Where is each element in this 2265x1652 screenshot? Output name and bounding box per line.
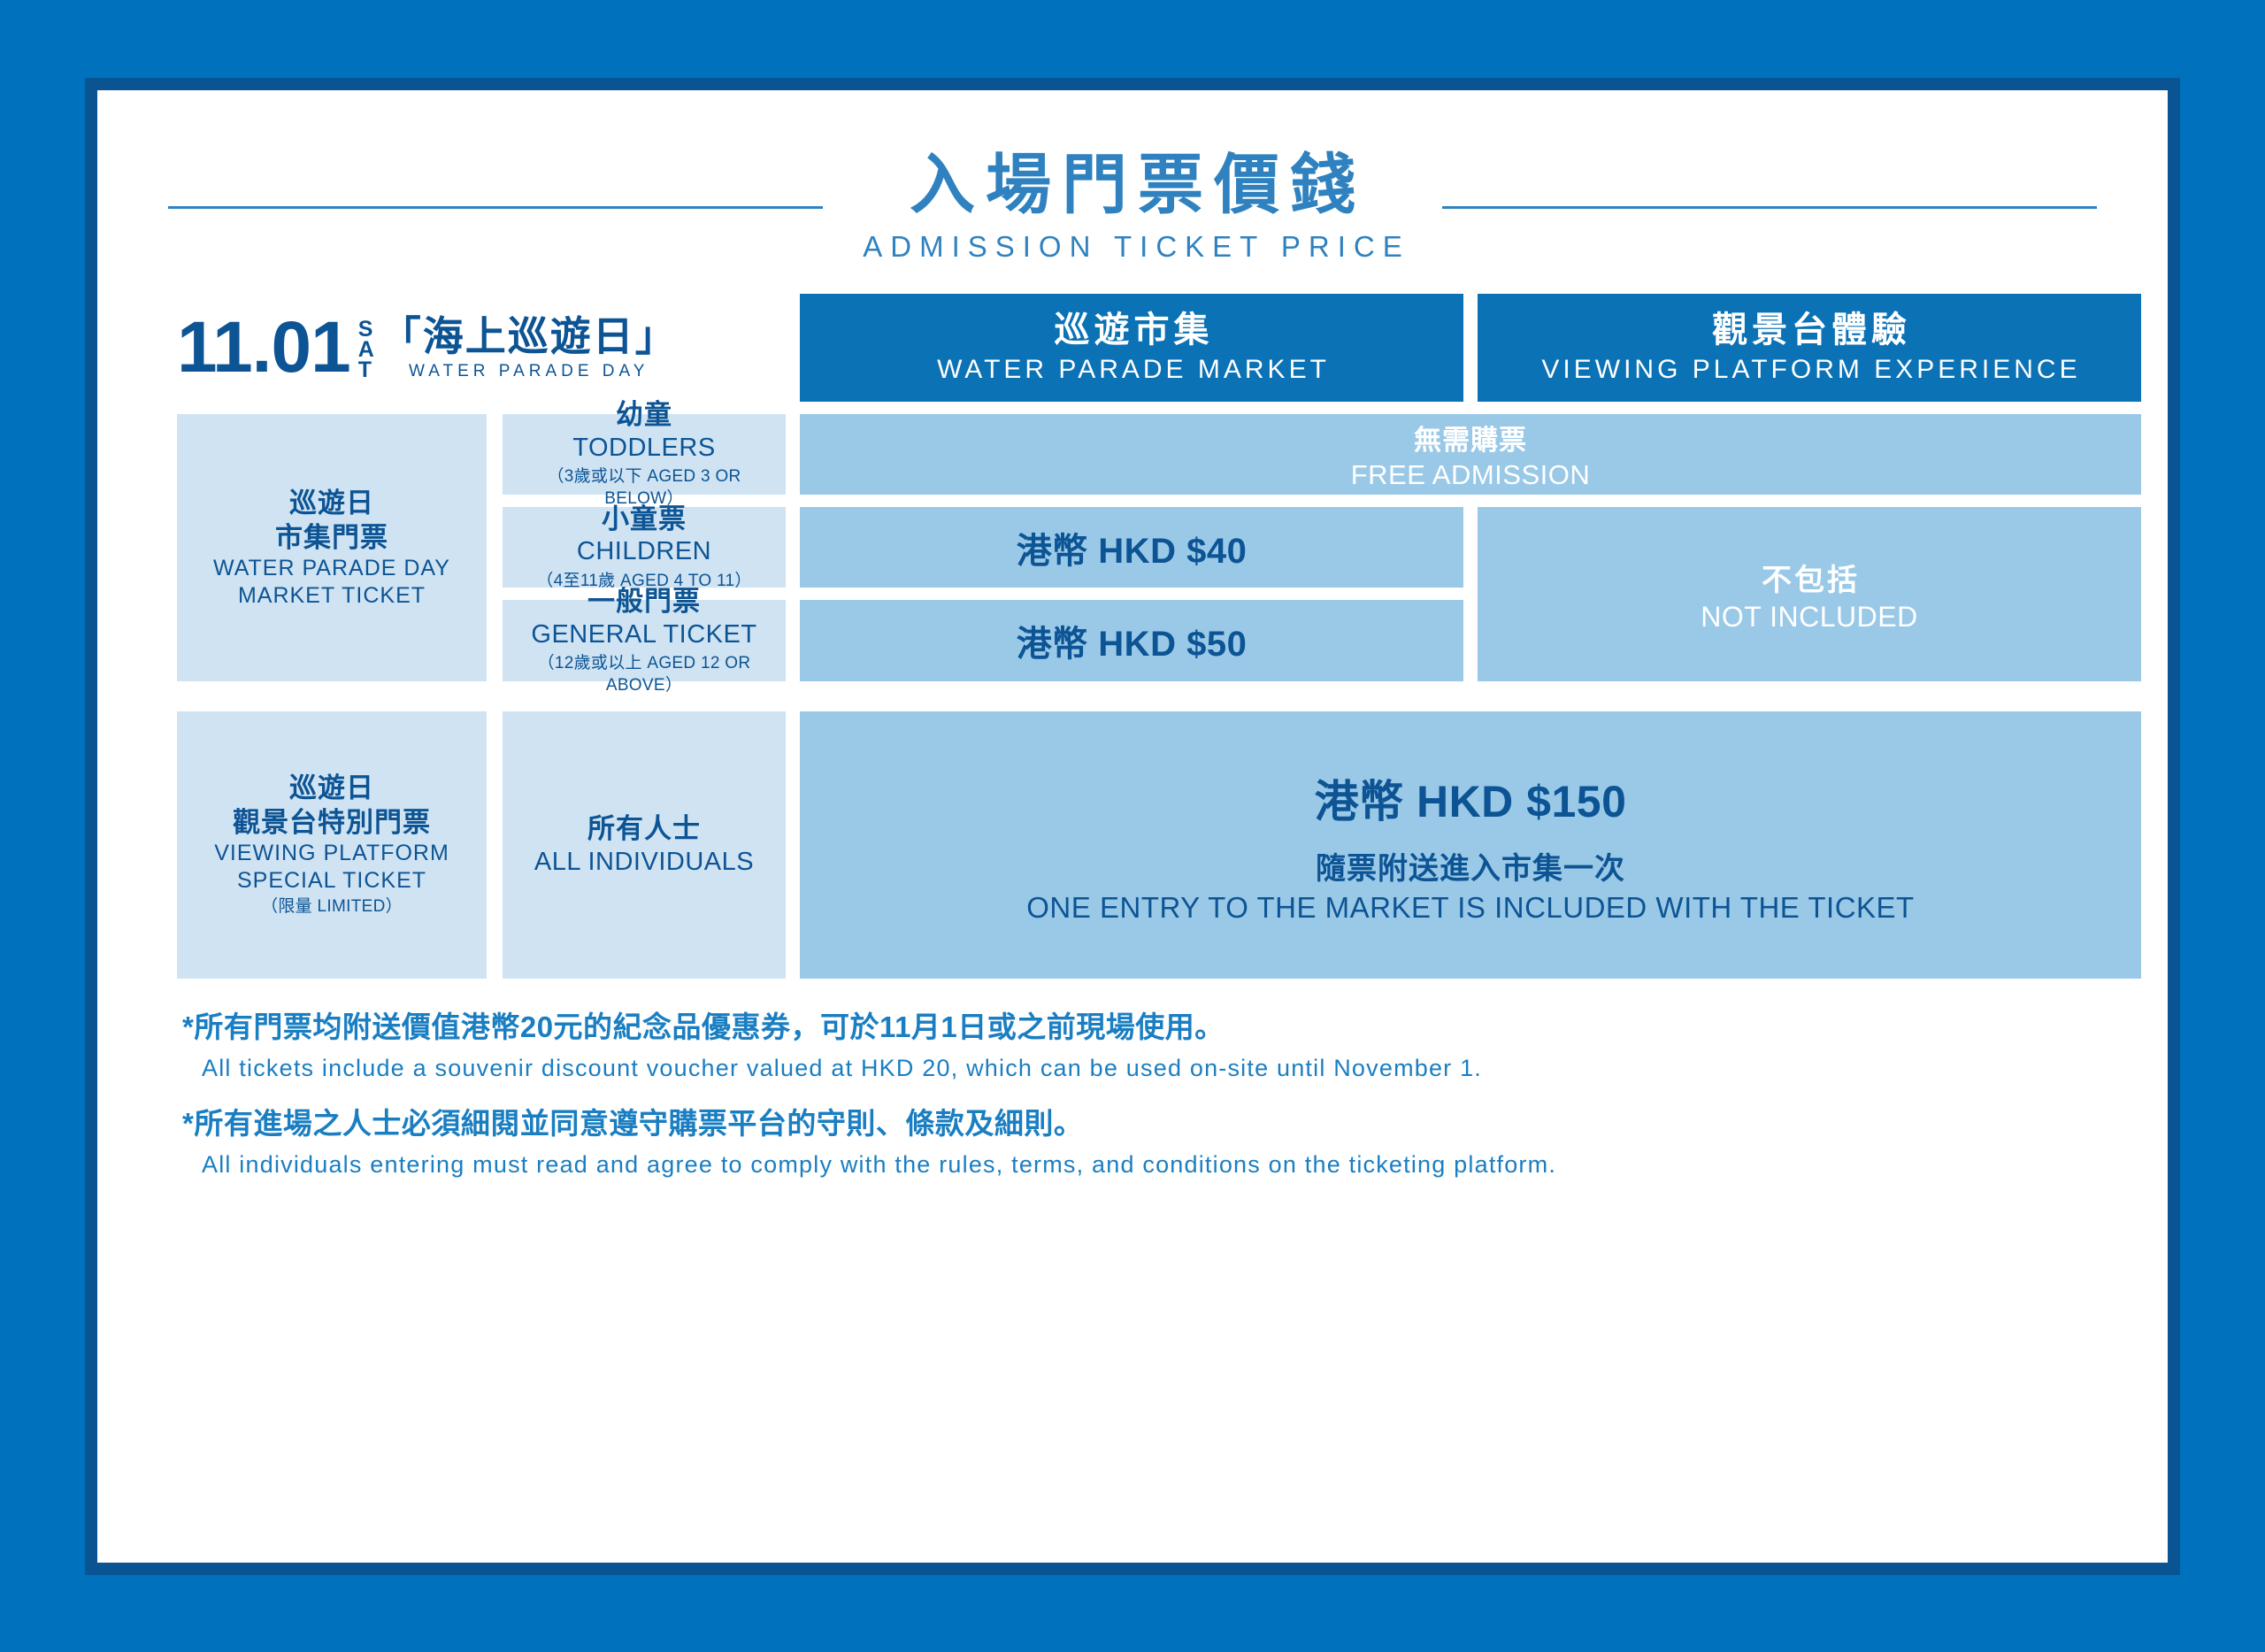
price-rows-wrap: 港幣 HKD $40 港幣 HKD $50 不包括 NOT INCLUDED: [800, 507, 2141, 681]
price-area-section1: 無需購票 FREE ADMISSION 港幣 HKD $40 港幣 HKD $5…: [800, 414, 2141, 681]
title-block: 入場門票價錢 ADMISSION TICKET PRICE: [855, 150, 1410, 264]
ticket-type-general: 一般門票 GENERAL TICKET （12歲或以上 AGED 12 OR A…: [503, 600, 786, 681]
cell-price-children-market: 港幣 HKD $40: [800, 507, 1463, 588]
ticket-type-general-zh: 一般門票: [587, 585, 701, 619]
event-name-block: 「海上巡遊日」 WATER PARADE DAY: [380, 314, 678, 381]
cell-platform-special-price: 港幣 HKD $150 隨票附送進入市集一次 ONE ENTRY TO THE …: [800, 711, 2141, 979]
free-admission-zh: 無需購票: [1414, 418, 1527, 457]
spacer: [177, 402, 2088, 414]
section-spacer: [177, 681, 2088, 711]
column-header-platform-en: VIEWING PLATFORM EXPERIENCE: [1538, 354, 2080, 386]
event-weekday: SAT: [358, 319, 375, 380]
ticket-type-children-en: CHILDREN: [577, 536, 711, 567]
row-label-platform-en-2: SPECIAL TICKET: [237, 867, 426, 895]
ticket-type-general-age: （12歲或以上 AGED 12 OR ABOVE）: [513, 653, 775, 696]
row-label-platform-en-1: VIEWING PLATFORM: [214, 840, 449, 867]
section-viewing-platform-ticket: 巡遊日 觀景台特別門票 VIEWING PLATFORM SPECIAL TIC…: [177, 711, 2088, 979]
row-label-platform-zh-1: 巡遊日: [289, 772, 374, 806]
row-label-market-en-2: MARKET TICKET: [238, 582, 426, 610]
row-label-platform-limited: （限量 LIMITED）: [261, 896, 403, 918]
column-header-platform: 觀景台體驗 VIEWING PLATFORM EXPERIENCE: [1478, 294, 2141, 402]
page-header: 入場門票價錢 ADMISSION TICKET PRICE: [97, 145, 2168, 269]
price-general-market: 港幣 HKD $50: [1017, 615, 1248, 666]
footnote-1: *所有門票均附送價值港幣20元的紀念品優惠券，可於11月1日或之前現場使用。 A…: [182, 1009, 2083, 1084]
event-date-block: 11.01 SAT 「海上巡遊日」 WATER PARADE DAY: [177, 294, 786, 402]
title-rule-left: [168, 206, 823, 209]
page-title-en: ADMISSION TICKET PRICE: [855, 230, 1410, 264]
price-table: 11.01 SAT 「海上巡遊日」 WATER PARADE DAY 巡遊市集 …: [97, 294, 2168, 979]
platform-price-note-zh: 隨票附送進入市集一次: [1316, 844, 1625, 887]
row-label-market-en-1: WATER PARADE DAY: [213, 555, 450, 582]
footnote-1-zh: *所有門票均附送價值港幣20元的紀念品優惠券，可於11月1日或之前現場使用。: [182, 1009, 2083, 1047]
section-market-ticket: 巡遊日 市集門票 WATER PARADE DAY MARKET TICKET …: [177, 414, 2088, 681]
column-header-market-en: WATER PARADE MARKET: [933, 354, 1330, 386]
ticket-type-all-individuals: 所有人士 ALL INDIVIDUALS: [503, 711, 786, 979]
cell-free-admission: 無需購票 FREE ADMISSION: [800, 414, 2141, 495]
market-price-column: 港幣 HKD $40 港幣 HKD $50: [800, 507, 1463, 681]
not-included-zh: 不包括: [1759, 556, 1860, 599]
row-label-market-zh-1: 巡遊日: [289, 487, 374, 521]
row-label-platform-zh-2: 觀景台特別門票: [233, 806, 431, 841]
ticket-type-toddlers: 幼童 TODDLERS （3歲或以下 AGED 3 OR BELOW）: [503, 414, 786, 495]
row-label-platform-ticket: 巡遊日 觀景台特別門票 VIEWING PLATFORM SPECIAL TIC…: [177, 711, 487, 979]
cell-platform-not-included: 不包括 NOT INCLUDED: [1478, 507, 2141, 681]
not-included-en: NOT INCLUDED: [1701, 601, 1917, 634]
row-label-market-ticket: 巡遊日 市集門票 WATER PARADE DAY MARKET TICKET: [177, 414, 487, 681]
footnotes: *所有門票均附送價值港幣20元的紀念品優惠券，可於11月1日或之前現場使用。 A…: [97, 979, 2168, 1181]
ticket-type-toddlers-zh: 幼童: [616, 398, 672, 433]
ticket-type-all-zh: 所有人士: [587, 812, 701, 847]
cell-price-general-market: 港幣 HKD $50: [800, 600, 1463, 681]
footnote-2-zh: *所有進場之人士必須細閱並同意遵守購票平台的守則、條款及細則。: [182, 1105, 2083, 1143]
ticket-type-children: 小童票 CHILDREN （4至11歲 AGED 4 TO 11）: [503, 507, 786, 588]
title-rule-right: [1442, 206, 2097, 209]
page-title-zh: 入場門票價錢: [855, 150, 1410, 219]
ticket-type-children-zh: 小童票: [602, 503, 687, 537]
event-name-zh: 「海上巡遊日」: [380, 314, 678, 359]
platform-price-note-en: ONE ENTRY TO THE MARKET IS INCLUDED WITH…: [1026, 891, 1914, 925]
table-header-row: 11.01 SAT 「海上巡遊日」 WATER PARADE DAY 巡遊市集 …: [177, 294, 2088, 402]
column-header-platform-zh: 觀景台體驗: [1708, 310, 1911, 351]
free-admission-en: FREE ADMISSION: [1351, 459, 1591, 491]
poster-card: 入場門票價錢 ADMISSION TICKET PRICE 11.01 SAT …: [85, 78, 2180, 1575]
ticket-type-toddlers-en: TODDLERS: [572, 433, 715, 464]
ticket-type-all-en: ALL INDIVIDUALS: [534, 847, 754, 878]
footnote-2-en: All individuals entering must read and a…: [182, 1149, 2083, 1180]
column-header-market: 巡遊市集 WATER PARADE MARKET: [800, 294, 1463, 402]
event-date: 11.01: [177, 311, 350, 384]
event-name-en: WATER PARADE DAY: [380, 362, 678, 381]
price-platform-special: 港幣 HKD $150: [1315, 766, 1627, 830]
price-children-market: 港幣 HKD $40: [1017, 522, 1248, 573]
row-label-market-zh-2: 市集門票: [275, 521, 388, 556]
footnote-1-en: All tickets include a souvenir discount …: [182, 1052, 2083, 1084]
ticket-type-column: 幼童 TODDLERS （3歲或以下 AGED 3 OR BELOW） 小童票 …: [503, 414, 786, 681]
column-header-market-zh: 巡遊市集: [1050, 310, 1214, 351]
ticket-type-general-en: GENERAL TICKET: [531, 619, 756, 650]
footnote-2: *所有進場之人士必須細閱並同意遵守購票平台的守則、條款及細則。 All indi…: [182, 1105, 2083, 1180]
